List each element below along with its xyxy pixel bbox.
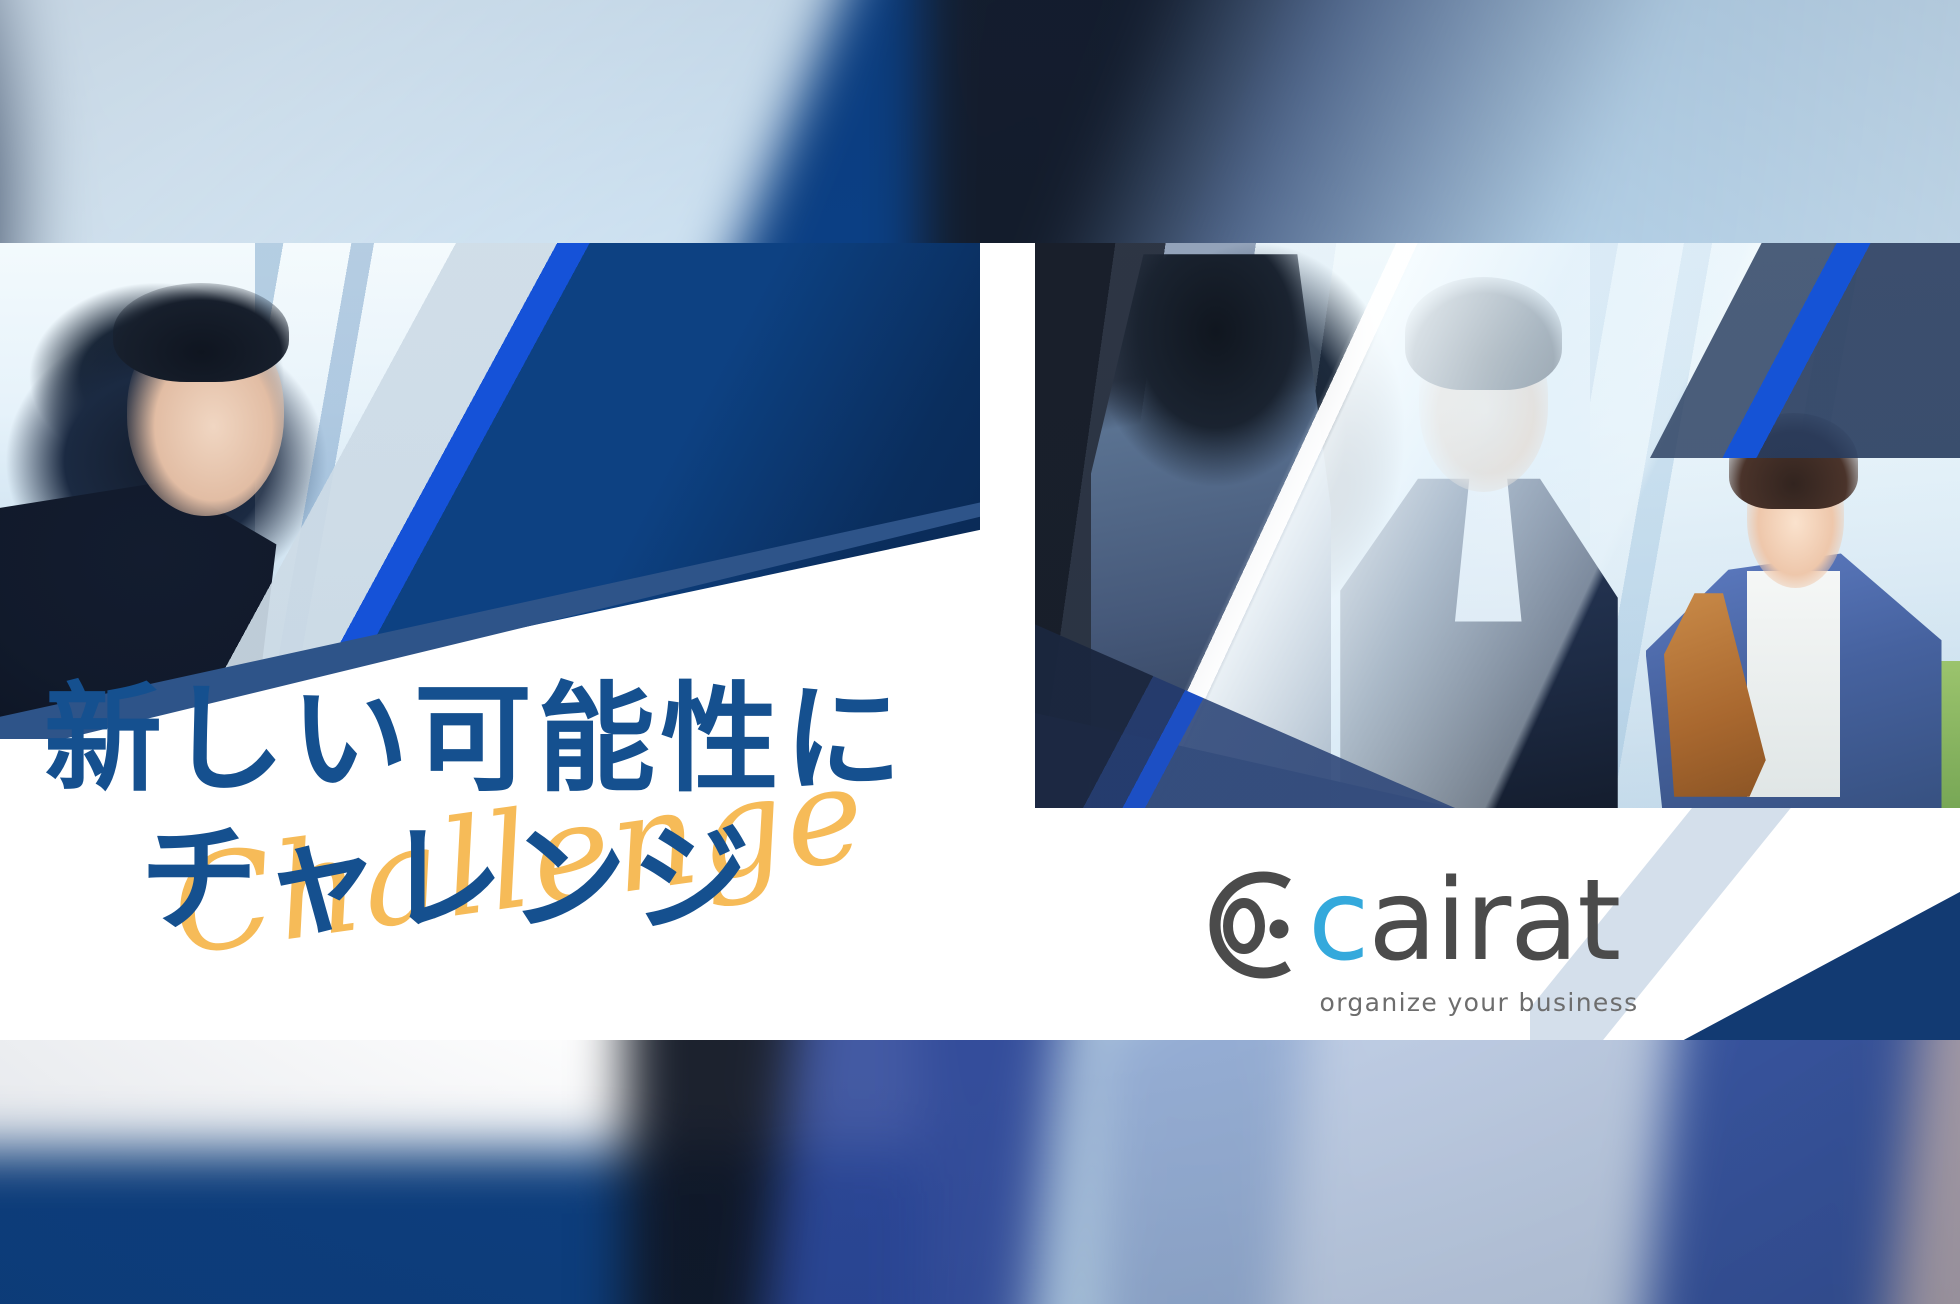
- headline-line-2: チャレンジ: [140, 820, 755, 938]
- left-photo-panel: [0, 243, 980, 739]
- logo-lockup: cairat: [1196, 866, 1716, 984]
- logo-tagline: organize your business: [1196, 988, 1716, 1017]
- right-photo-panel: [1035, 243, 1960, 808]
- logo-wordmark-accent-letter: c: [1308, 856, 1368, 986]
- logo-wordmark: cairat: [1308, 865, 1620, 977]
- headline-block: 新しい可能性に Challenge チャレンジ: [44, 680, 1004, 1010]
- cairat-ring-mark-icon: [1196, 866, 1314, 984]
- brand-logo[interactable]: cairat organize your business: [1196, 866, 1716, 1026]
- logo-wordmark-rest: airat: [1368, 856, 1620, 986]
